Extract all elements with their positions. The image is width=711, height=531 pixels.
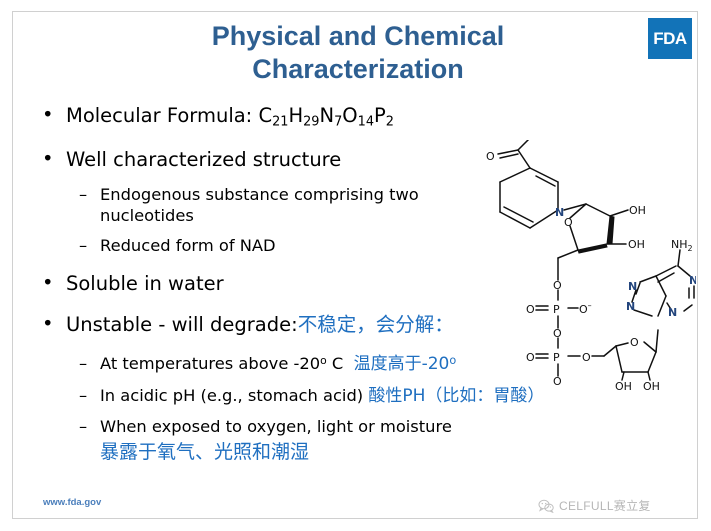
bullet-marker: • — [42, 147, 54, 172]
molecular-formula-label: Molecular Formula: — [66, 104, 258, 127]
label-o-double-2: O — [526, 351, 535, 364]
bullet-molecular-formula: •Molecular Formula: C21H29N7O14P2 — [34, 104, 674, 131]
label-oh-4: OH — [643, 380, 660, 390]
bullet-marker: • — [42, 312, 54, 337]
fda-logo-label: FDA — [653, 30, 686, 47]
temperature-label-en: At temperatures above -20o C — [100, 354, 343, 373]
slide-canvas: FDA Physical and Chemical Characterizati… — [0, 0, 711, 531]
dash-marker: – — [79, 235, 87, 256]
unstable-label-en: Unstable - will degrade: — [66, 313, 298, 336]
dash-marker: – — [79, 184, 87, 205]
acidic-ph-label-en: In acidic pH (e.g., stomach acid) — [100, 386, 363, 405]
sub-bullet-reduced-nad-label: Reduced form of NAD — [100, 236, 276, 255]
fda-logo: FDA — [648, 18, 692, 59]
unstable-label-zh: 不稳定，会分解： — [298, 313, 454, 336]
label-o-bridge: O — [553, 327, 562, 340]
label-o-carbonyl: O — [486, 150, 495, 163]
dash-marker: – — [79, 385, 87, 406]
sub-bullet-oxygen: –When exposed to oxygen, light or moistu… — [34, 416, 674, 437]
bullet-marker: • — [42, 103, 54, 128]
label-o-link-2: O — [582, 351, 591, 364]
label-p-1: P — [553, 303, 560, 316]
label-o-ribose-bottom: O — [630, 336, 639, 349]
label-n3-adenine: N — [668, 306, 677, 319]
fda-url-link[interactable]: www.fda.gov — [43, 497, 101, 508]
label-o-link-1: O — [553, 279, 562, 292]
sub-bullet-endogenous-line1: Endogenous substance comprising two — [100, 185, 419, 204]
temperature-label-zh: 温度高于-20o — [354, 354, 457, 374]
celfull-watermark: CELFULL赛立复 — [538, 497, 651, 514]
page-title: Physical and Chemical Characterization — [118, 20, 598, 86]
watermark-label: CELFULL赛立复 — [559, 497, 651, 514]
oxygen-label-zh: 暴露于氧气、光照和潮湿 — [34, 440, 674, 466]
label-oh-2: OH — [628, 238, 645, 251]
nadh-structure-svg: NH2 O N O OH OH O P O O– O P — [458, 140, 696, 390]
label-o-ribose-top: O — [564, 216, 573, 229]
nadh-structure-diagram: NH2 O N O OH OH O P O O– O P — [458, 140, 696, 390]
dash-marker: – — [79, 416, 87, 437]
well-characterized-label: Well characterized structure — [66, 148, 341, 171]
soluble-label: Soluble in water — [66, 272, 224, 295]
label-n7-adenine: N — [628, 280, 637, 293]
bullet-marker: • — [42, 271, 54, 296]
formula-text: C21H29N7O14P2 — [258, 104, 394, 127]
label-n1-adenine: N — [689, 274, 696, 287]
label-o-double-1: O — [526, 303, 535, 316]
label-nh2-top: NH2 — [526, 140, 548, 141]
wechat-icon — [538, 499, 554, 513]
label-nh2-adenine: NH2 — [671, 238, 693, 253]
label-oh-1: OH — [629, 204, 646, 217]
spacer — [34, 407, 674, 416]
label-n-nicotinamide: N — [555, 206, 564, 219]
label-n9-adenine: N — [626, 300, 635, 313]
page-title-line1: Physical and Chemical — [118, 20, 598, 53]
dash-marker: – — [79, 353, 87, 374]
oxygen-label-en: When exposed to oxygen, light or moistur… — [100, 417, 452, 436]
label-p-2: P — [553, 351, 560, 364]
label-o-minus-2: O — [553, 375, 562, 388]
label-oh-3: OH — [615, 380, 632, 390]
page-title-line2: Characterization — [118, 53, 598, 86]
label-o-minus-1: O– — [579, 301, 592, 316]
